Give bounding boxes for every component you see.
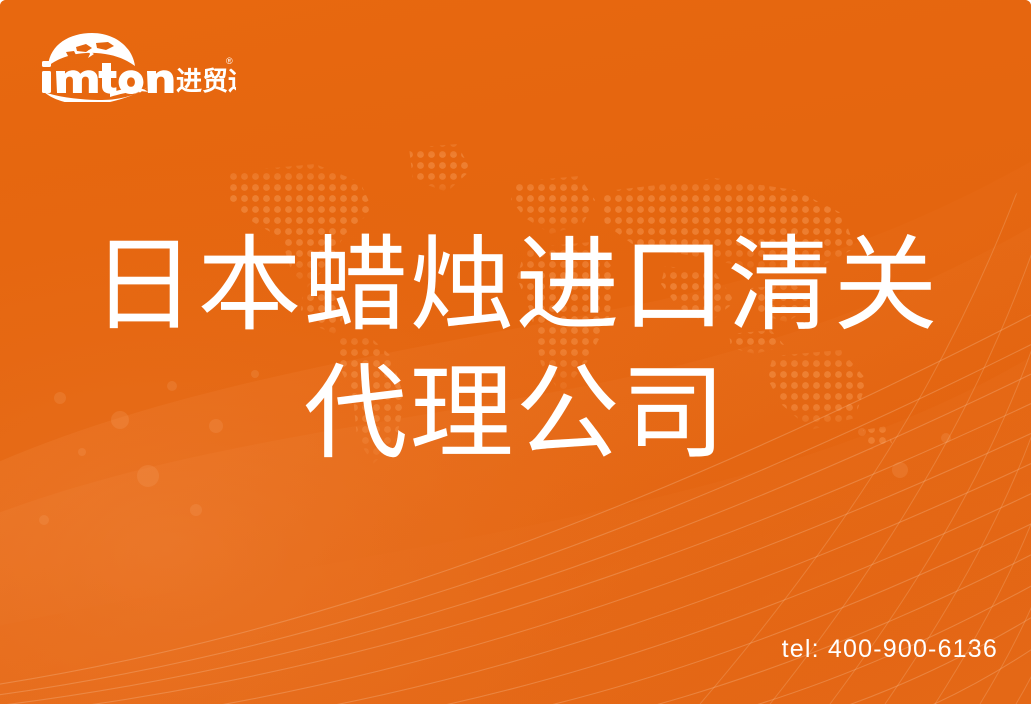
logo-wordmark [42,61,174,94]
company-logo[interactable]: 进贸通 ® [36,30,236,102]
globe-arc-icon [48,33,135,66]
headline-line-1: 日本蜡烛进口清关 [0,222,1031,350]
headline: 日本蜡烛进口清关 代理公司 [0,222,1031,478]
logo-chinese-name: 进贸通 [176,66,236,96]
contact-phone[interactable]: tel: 400-900-6136 [782,635,998,664]
svg-text:进贸通: 进贸通 [176,66,236,96]
trademark-icon: ® [226,56,233,66]
headline-line-2: 代理公司 [0,350,1031,478]
promo-banner: 进贸通 ® 日本蜡烛进口清关 代理公司 tel: 400-900-6136 [0,0,1031,704]
